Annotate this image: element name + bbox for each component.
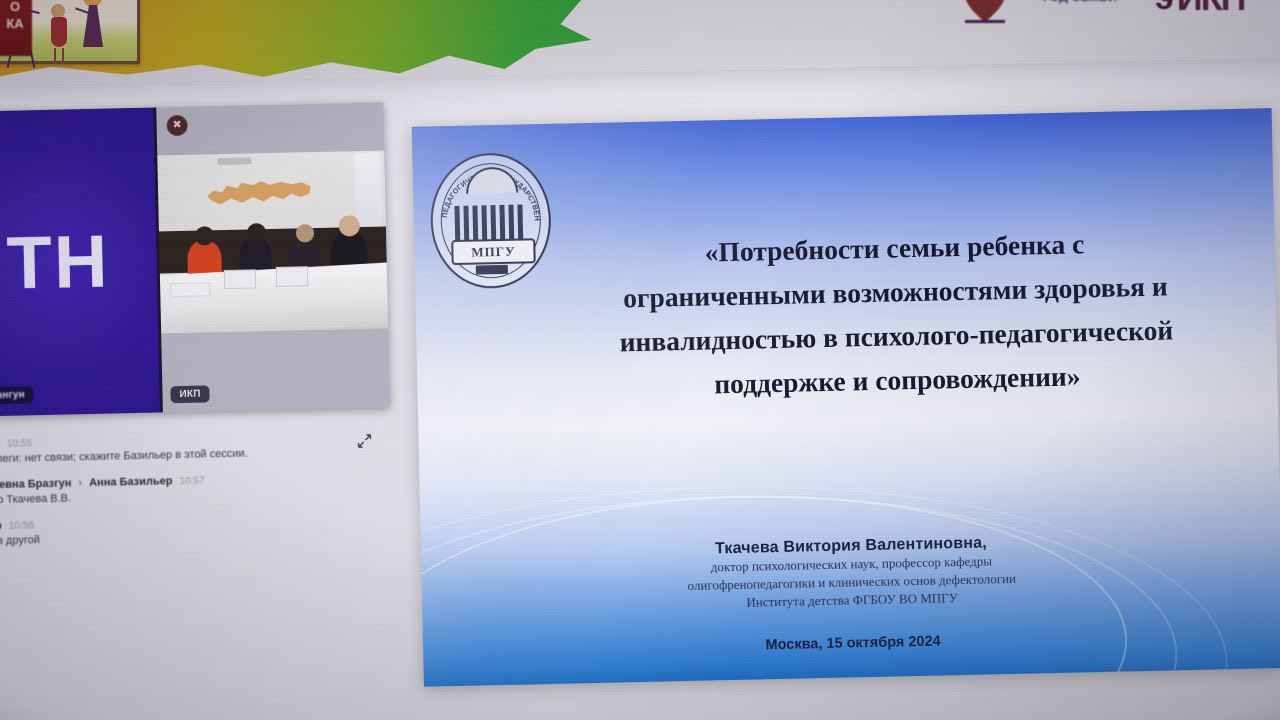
video-conference-panel[interactable]: ТН ина Брангун: [0, 103, 390, 417]
ikp-institute-logo: э ИКП: [1155, 0, 1280, 22]
camera-tile-name-label: ИКП: [170, 385, 209, 403]
mute-badge-icon: ✖: [166, 115, 187, 136]
laptop-2: [276, 266, 308, 287]
displayed-screen: ТН ина Брангун: [0, 57, 1280, 720]
meeting-room-video: [157, 151, 388, 334]
year-of-family-banner: 2024 ГОД СЕМЬИ: [1020, 0, 1140, 30]
ceiling-lamp: [217, 157, 251, 165]
participant-initials: ТН: [6, 219, 110, 306]
seal-bottom-tab: [476, 265, 508, 275]
participant-name-label: ина Брангун: [0, 386, 34, 405]
seal-abbr-ribbon: МПГУ: [451, 238, 536, 265]
chat-author: ильер: [0, 520, 2, 533]
chat-timestamp: 10:55: [7, 438, 32, 450]
chat-message[interactable]: ильер 10:55 ь, коллеги: нет связи; скажи…: [0, 431, 331, 466]
chat-timestamp: 10:57: [179, 476, 204, 488]
chat-timestamp: 10:58: [9, 520, 34, 532]
ikp-glyph: э: [1155, 0, 1174, 15]
presentation-slide[interactable]: ПЕДАГОГИЧЕСКИЙ ГОСУДАРСТВЕННЫЙ МПГУ «Пот: [412, 108, 1280, 687]
video-tile-camera[interactable]: ✖ ИКП: [156, 103, 390, 413]
vertical-red-banner: Я О КА: [0, 0, 32, 56]
chat-author: иколаевна Бразгун: [0, 477, 72, 491]
chat-direction-arrow: ›: [78, 477, 82, 489]
drawn-figure-child: [51, 4, 67, 47]
papers: [170, 282, 210, 297]
heart-emblem-icon: [955, 0, 1015, 28]
chat-message[interactable]: ильер 10:58 кант: в другой: [0, 513, 333, 548]
seal-abbr: МПГУ: [471, 243, 516, 260]
drawn-figure-mother: [83, 0, 103, 47]
expand-arrows-icon[interactable]: [356, 433, 372, 449]
ikp-logo-text: ИКП: [1177, 0, 1245, 16]
video-tile-initials[interactable]: ТН ина Брангун: [0, 108, 160, 417]
slide-title: «Потребности семьи ребенка с ограниченны…: [544, 219, 1248, 410]
slide-author-block: Ткачева Виктория Валентиновна, доктор пс…: [571, 531, 1133, 657]
laptop-1: [224, 269, 256, 289]
mpgu-seal-logo: ПЕДАГОГИЧЕСКИЙ ГОСУДАРСТВЕННЫЙ МПГУ: [429, 152, 552, 290]
photo-scene: Я О КА 2024 ГОД СЕМЬИ э ИКП ТН ина Бранг…: [0, 0, 1280, 720]
seal-building: [452, 178, 529, 244]
year-subtitle: ГОД СЕМЬИ: [1020, 0, 1140, 4]
vertical-letter-1: О: [10, 0, 20, 13]
chat-message[interactable]: иколаевна Бразгун › Анна Базильер 10:57 …: [0, 472, 332, 507]
chat-recipient: Анна Базильер: [89, 475, 173, 489]
vertical-letter-2: КА: [6, 17, 23, 30]
chat-panel[interactable]: ильер 10:55 ь, коллеги: нет связи; скажи…: [0, 431, 333, 562]
mute-glyph: ✖: [172, 120, 181, 131]
conference-table: [160, 263, 388, 334]
